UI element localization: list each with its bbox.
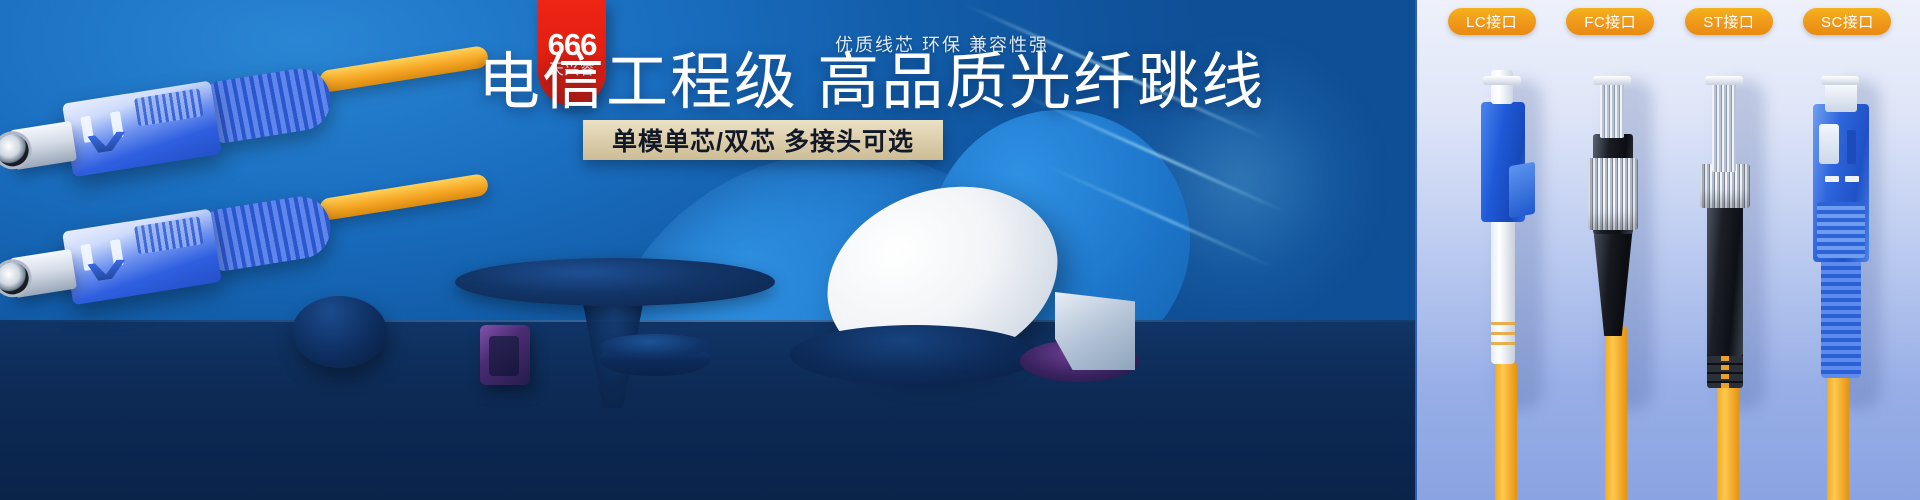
connector-latch: [87, 258, 127, 282]
connector-ferrule: [10, 121, 77, 170]
fiber-cable-yellow: [1717, 382, 1739, 500]
connector-strain-boot: [1491, 214, 1515, 364]
pill-lc[interactable]: LC接口: [1448, 8, 1536, 35]
housing-tab: [1847, 130, 1856, 164]
page-title: 电信工程级 高品质光纤跳线: [478, 52, 1265, 114]
housing-grip: [1817, 202, 1865, 258]
decor-pedestal-top: [455, 258, 775, 306]
subtitle-text: 单模单芯/双芯 多接头可选: [612, 122, 914, 158]
subtitle-banner: 单模单芯/双芯 多接头可选: [583, 120, 943, 160]
cap-flange: [1705, 76, 1743, 85]
connector-strain-boot: [207, 192, 335, 272]
boot-ring: [1491, 332, 1515, 335]
connector-type-panel: LC接口 FC接口 ST接口 SC接口: [1415, 0, 1920, 500]
sc-connector: [1783, 70, 1893, 500]
decor-cube-purple: [480, 325, 530, 385]
pill-st[interactable]: ST接口: [1685, 8, 1773, 35]
connector-ferrule: [1600, 76, 1624, 138]
boot-ring: [1491, 322, 1515, 325]
threaded-nut: [1588, 158, 1638, 230]
fiber-cable-yellow: [318, 173, 489, 221]
fc-connector: [1555, 70, 1665, 500]
st-connector: [1667, 70, 1777, 500]
connector-housing: [1481, 102, 1525, 222]
pill-fc[interactable]: FC接口: [1566, 8, 1654, 35]
pill-sc[interactable]: SC接口: [1803, 8, 1891, 35]
housing-marking: [1825, 176, 1839, 182]
decor-bowl: [292, 296, 387, 368]
housing-window: [1819, 124, 1839, 164]
decor-disc-dark: [790, 325, 1040, 385]
decor-wedge-white: [1055, 292, 1135, 370]
fiber-cable-yellow: [1495, 362, 1517, 500]
connector-housing: [62, 81, 222, 178]
cap-flange: [1821, 76, 1859, 85]
boot-ring: [1491, 342, 1515, 345]
cap-flange: [1483, 76, 1521, 85]
connector-latch: [87, 130, 127, 154]
fiber-cable-yellow: [1605, 326, 1627, 500]
dust-cap: [1825, 82, 1857, 112]
housing-marking: [1845, 176, 1859, 182]
connector-ferrule: [1712, 76, 1736, 172]
fiber-cable-yellow: [318, 45, 489, 93]
connector-type-list: LC接口 FC接口 ST接口 SC接口: [1417, 6, 1920, 36]
connector-strain-boot: [1821, 258, 1861, 378]
decor-cylinder-puck: [600, 342, 710, 376]
product-banner: 666 天兴睿 优质线芯 环保 兼容性强 电信工程级 高品质光纤跳线 单模单芯/…: [0, 0, 1920, 500]
connector-strain-boot: [207, 64, 335, 144]
connector-housing: [1813, 104, 1869, 262]
lc-connector: [1445, 70, 1555, 500]
cap-flange: [1593, 76, 1631, 85]
connector-ferrule: [10, 249, 77, 298]
connector-housing: [62, 209, 222, 306]
fiber-cable-yellow: [1827, 370, 1849, 500]
